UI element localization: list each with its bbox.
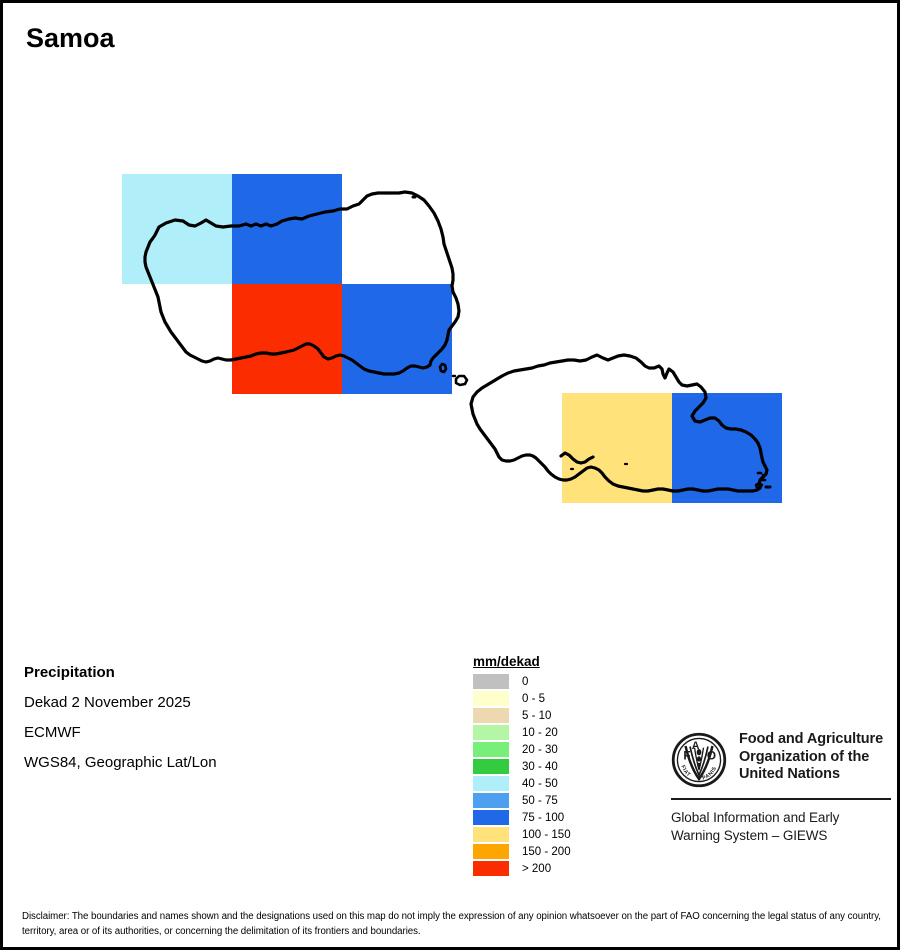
legend-label: 5 - 10: [522, 710, 551, 722]
metadata-projection: WGS84, Geographic Lat/Lon: [24, 748, 424, 778]
fao-branding: F A O FIAT PANIS Food and Agriculture Or…: [671, 731, 891, 845]
grid-cell-upolu-e[interactable]: [672, 393, 782, 503]
legend-row[interactable]: 40 - 50: [473, 775, 571, 792]
legend-row[interactable]: 10 - 20: [473, 724, 571, 741]
legend-label: 30 - 40: [522, 761, 558, 773]
legend-label: 0: [522, 676, 528, 688]
legend-row[interactable]: 150 - 200: [473, 843, 571, 860]
legend-label: 10 - 20: [522, 727, 558, 739]
legend-title: mm/dekad: [473, 655, 571, 669]
fao-organization-name: Food and Agriculture Organization of the…: [739, 731, 883, 784]
legend-label: > 200: [522, 863, 551, 875]
metadata-source: ECMWF: [24, 718, 424, 748]
legend-rows: 00 - 55 - 1010 - 2020 - 3030 - 4040 - 50…: [473, 673, 571, 877]
grid-cell-savaii-se[interactable]: [342, 284, 452, 394]
legend-swatch: [473, 844, 509, 859]
legend-swatch: [473, 861, 509, 876]
map-page: Samoa: [0, 0, 900, 950]
svg-text:F: F: [683, 749, 690, 762]
legend-label: 100 - 150: [522, 829, 571, 841]
fao-divider: [671, 798, 891, 800]
svg-text:O: O: [707, 749, 716, 762]
legend-row[interactable]: 75 - 100: [473, 809, 571, 826]
legend-label: 40 - 50: [522, 778, 558, 790]
fao-name-line-1: Food and Agriculture: [739, 731, 883, 749]
legend: mm/dekad 00 - 55 - 1010 - 2020 - 3030 - …: [473, 655, 571, 877]
legend-label: 20 - 30: [522, 744, 558, 756]
map-metadata: Precipitation Dekad 2 November 2025 ECMW…: [24, 658, 424, 778]
legend-label: 0 - 5: [522, 693, 545, 705]
giews-system-name: Global Information and Early Warning Sys…: [671, 809, 891, 845]
fao-logo-row: F A O FIAT PANIS Food and Agriculture Or…: [671, 731, 891, 788]
disclaimer-text: Disclaimer: The boundaries and names sho…: [22, 909, 887, 939]
giews-line-1: Global Information and Early: [671, 809, 891, 827]
giews-line-2: Warning System – GIEWS: [671, 827, 891, 845]
grid-cell-savaii-ne[interactable]: [232, 174, 342, 284]
legend-row[interactable]: 0: [473, 673, 571, 690]
legend-swatch: [473, 776, 509, 791]
legend-row[interactable]: 50 - 75: [473, 792, 571, 809]
legend-swatch: [473, 674, 509, 689]
legend-row[interactable]: 5 - 10: [473, 707, 571, 724]
legend-swatch: [473, 793, 509, 808]
legend-swatch: [473, 827, 509, 842]
svg-text:A: A: [692, 740, 700, 752]
grid-cell-savaii-nw[interactable]: [122, 174, 232, 284]
legend-row[interactable]: 30 - 40: [473, 758, 571, 775]
legend-swatch: [473, 742, 509, 757]
islet-manono: [456, 376, 467, 385]
legend-swatch: [473, 725, 509, 740]
map-canvas[interactable]: [3, 3, 900, 643]
legend-swatch: [473, 691, 509, 706]
metadata-period: Dekad 2 November 2025: [24, 688, 424, 718]
legend-swatch: [473, 810, 509, 825]
legend-label: 50 - 75: [522, 795, 558, 807]
legend-label: 150 - 200: [522, 846, 571, 858]
fao-emblem-icon: F A O FIAT PANIS: [671, 732, 727, 788]
legend-label: 75 - 100: [522, 812, 564, 824]
legend-swatch: [473, 759, 509, 774]
legend-row[interactable]: 100 - 150: [473, 826, 571, 843]
legend-row[interactable]: 20 - 30: [473, 741, 571, 758]
fao-name-line-2: Organization of the: [739, 749, 883, 767]
legend-row[interactable]: 0 - 5: [473, 690, 571, 707]
legend-row[interactable]: > 200: [473, 860, 571, 877]
grid-cell-upolu-w[interactable]: [562, 393, 672, 503]
fao-name-line-3: United Nations: [739, 766, 883, 784]
metadata-variable: Precipitation: [24, 658, 424, 688]
grid-cell-savaii-sw[interactable]: [232, 284, 342, 394]
legend-swatch: [473, 708, 509, 723]
